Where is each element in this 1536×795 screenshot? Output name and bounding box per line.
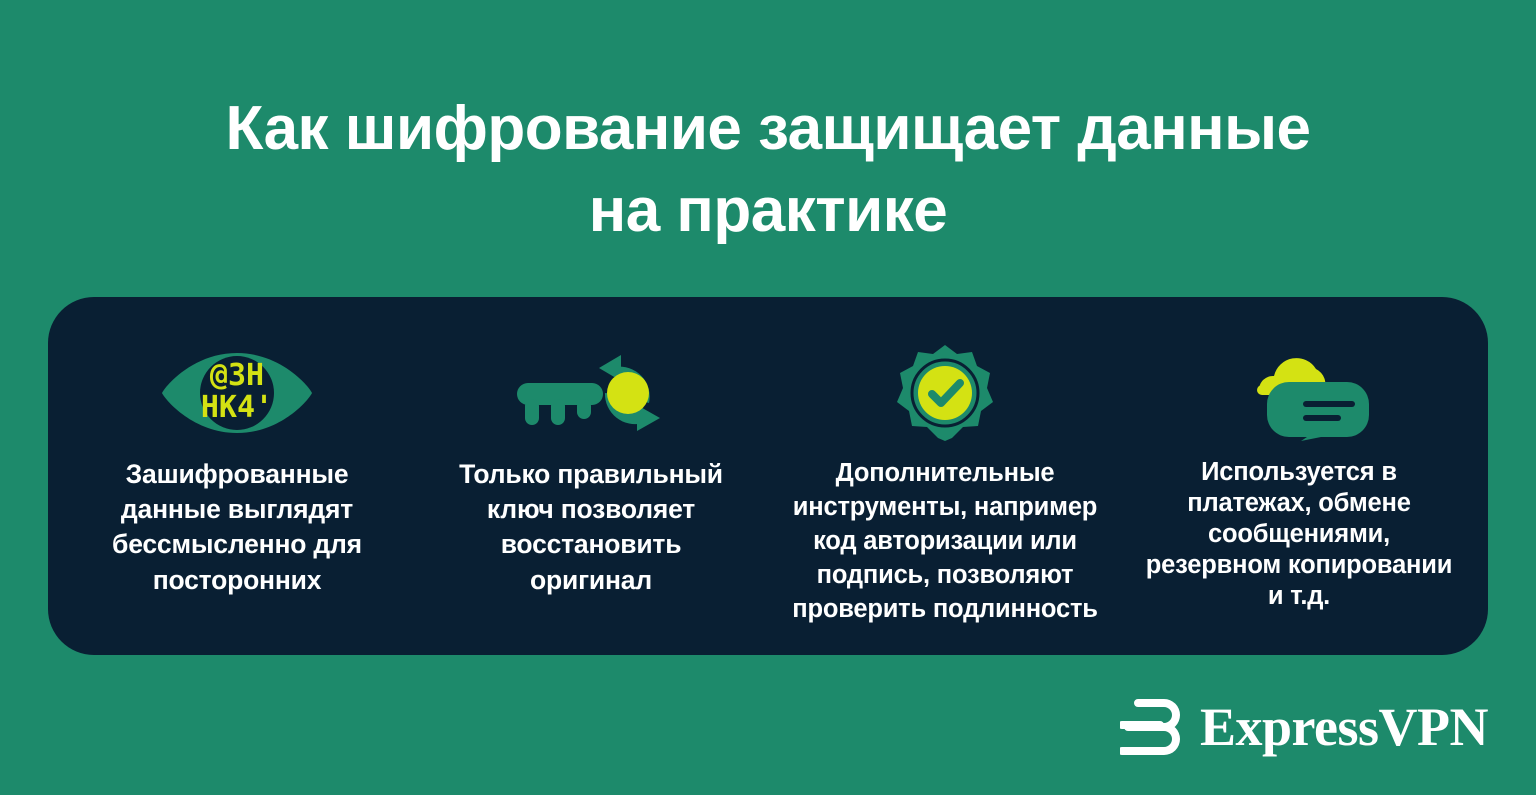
cloud-upload-message-icon: [1229, 345, 1369, 441]
column-correct-key: Только правильный ключ позволяет восстан…: [414, 345, 768, 598]
column-text-correct-key: Только правильный ключ позволяет восстан…: [446, 457, 736, 598]
infographic-canvas: Как шифрование защищает данные на практи…: [0, 0, 1536, 795]
brand-wordmark: ExpressVPN: [1200, 700, 1488, 754]
content-card: @3H HK4' Зашифрованные данные выглядят б…: [48, 297, 1488, 655]
column-text-encrypted-data: Зашифрованные данные выглядят бессмыслен…: [92, 457, 382, 598]
key-refresh-icon: [515, 345, 667, 441]
column-verification-tools: Дополнительные инструменты, например код…: [768, 345, 1122, 627]
expressvpn-e-logo: [1120, 695, 1182, 759]
column-text-use-cases: Используется в платежах, обмене сообщени…: [1144, 457, 1454, 613]
eye-cipher-text-bottom: HK4': [201, 390, 273, 425]
page-title: Как шифрование защищает данные на практи…: [0, 88, 1536, 252]
eye-cipher-text-top: @3H: [210, 358, 264, 393]
column-text-verification-tools: Дополнительные инструменты, например код…: [780, 457, 1110, 627]
column-use-cases: Используется в платежах, обмене сообщени…: [1122, 345, 1476, 613]
encrypted-eye-icon: @3H HK4': [162, 345, 312, 441]
column-encrypted-data: @3H HK4' Зашифрованные данные выглядят б…: [60, 345, 414, 598]
expressvpn-logo: ExpressVPN: [1120, 695, 1488, 759]
verified-badge-icon: [897, 345, 993, 441]
column-container: @3H HK4' Зашифрованные данные выглядят б…: [48, 297, 1488, 655]
